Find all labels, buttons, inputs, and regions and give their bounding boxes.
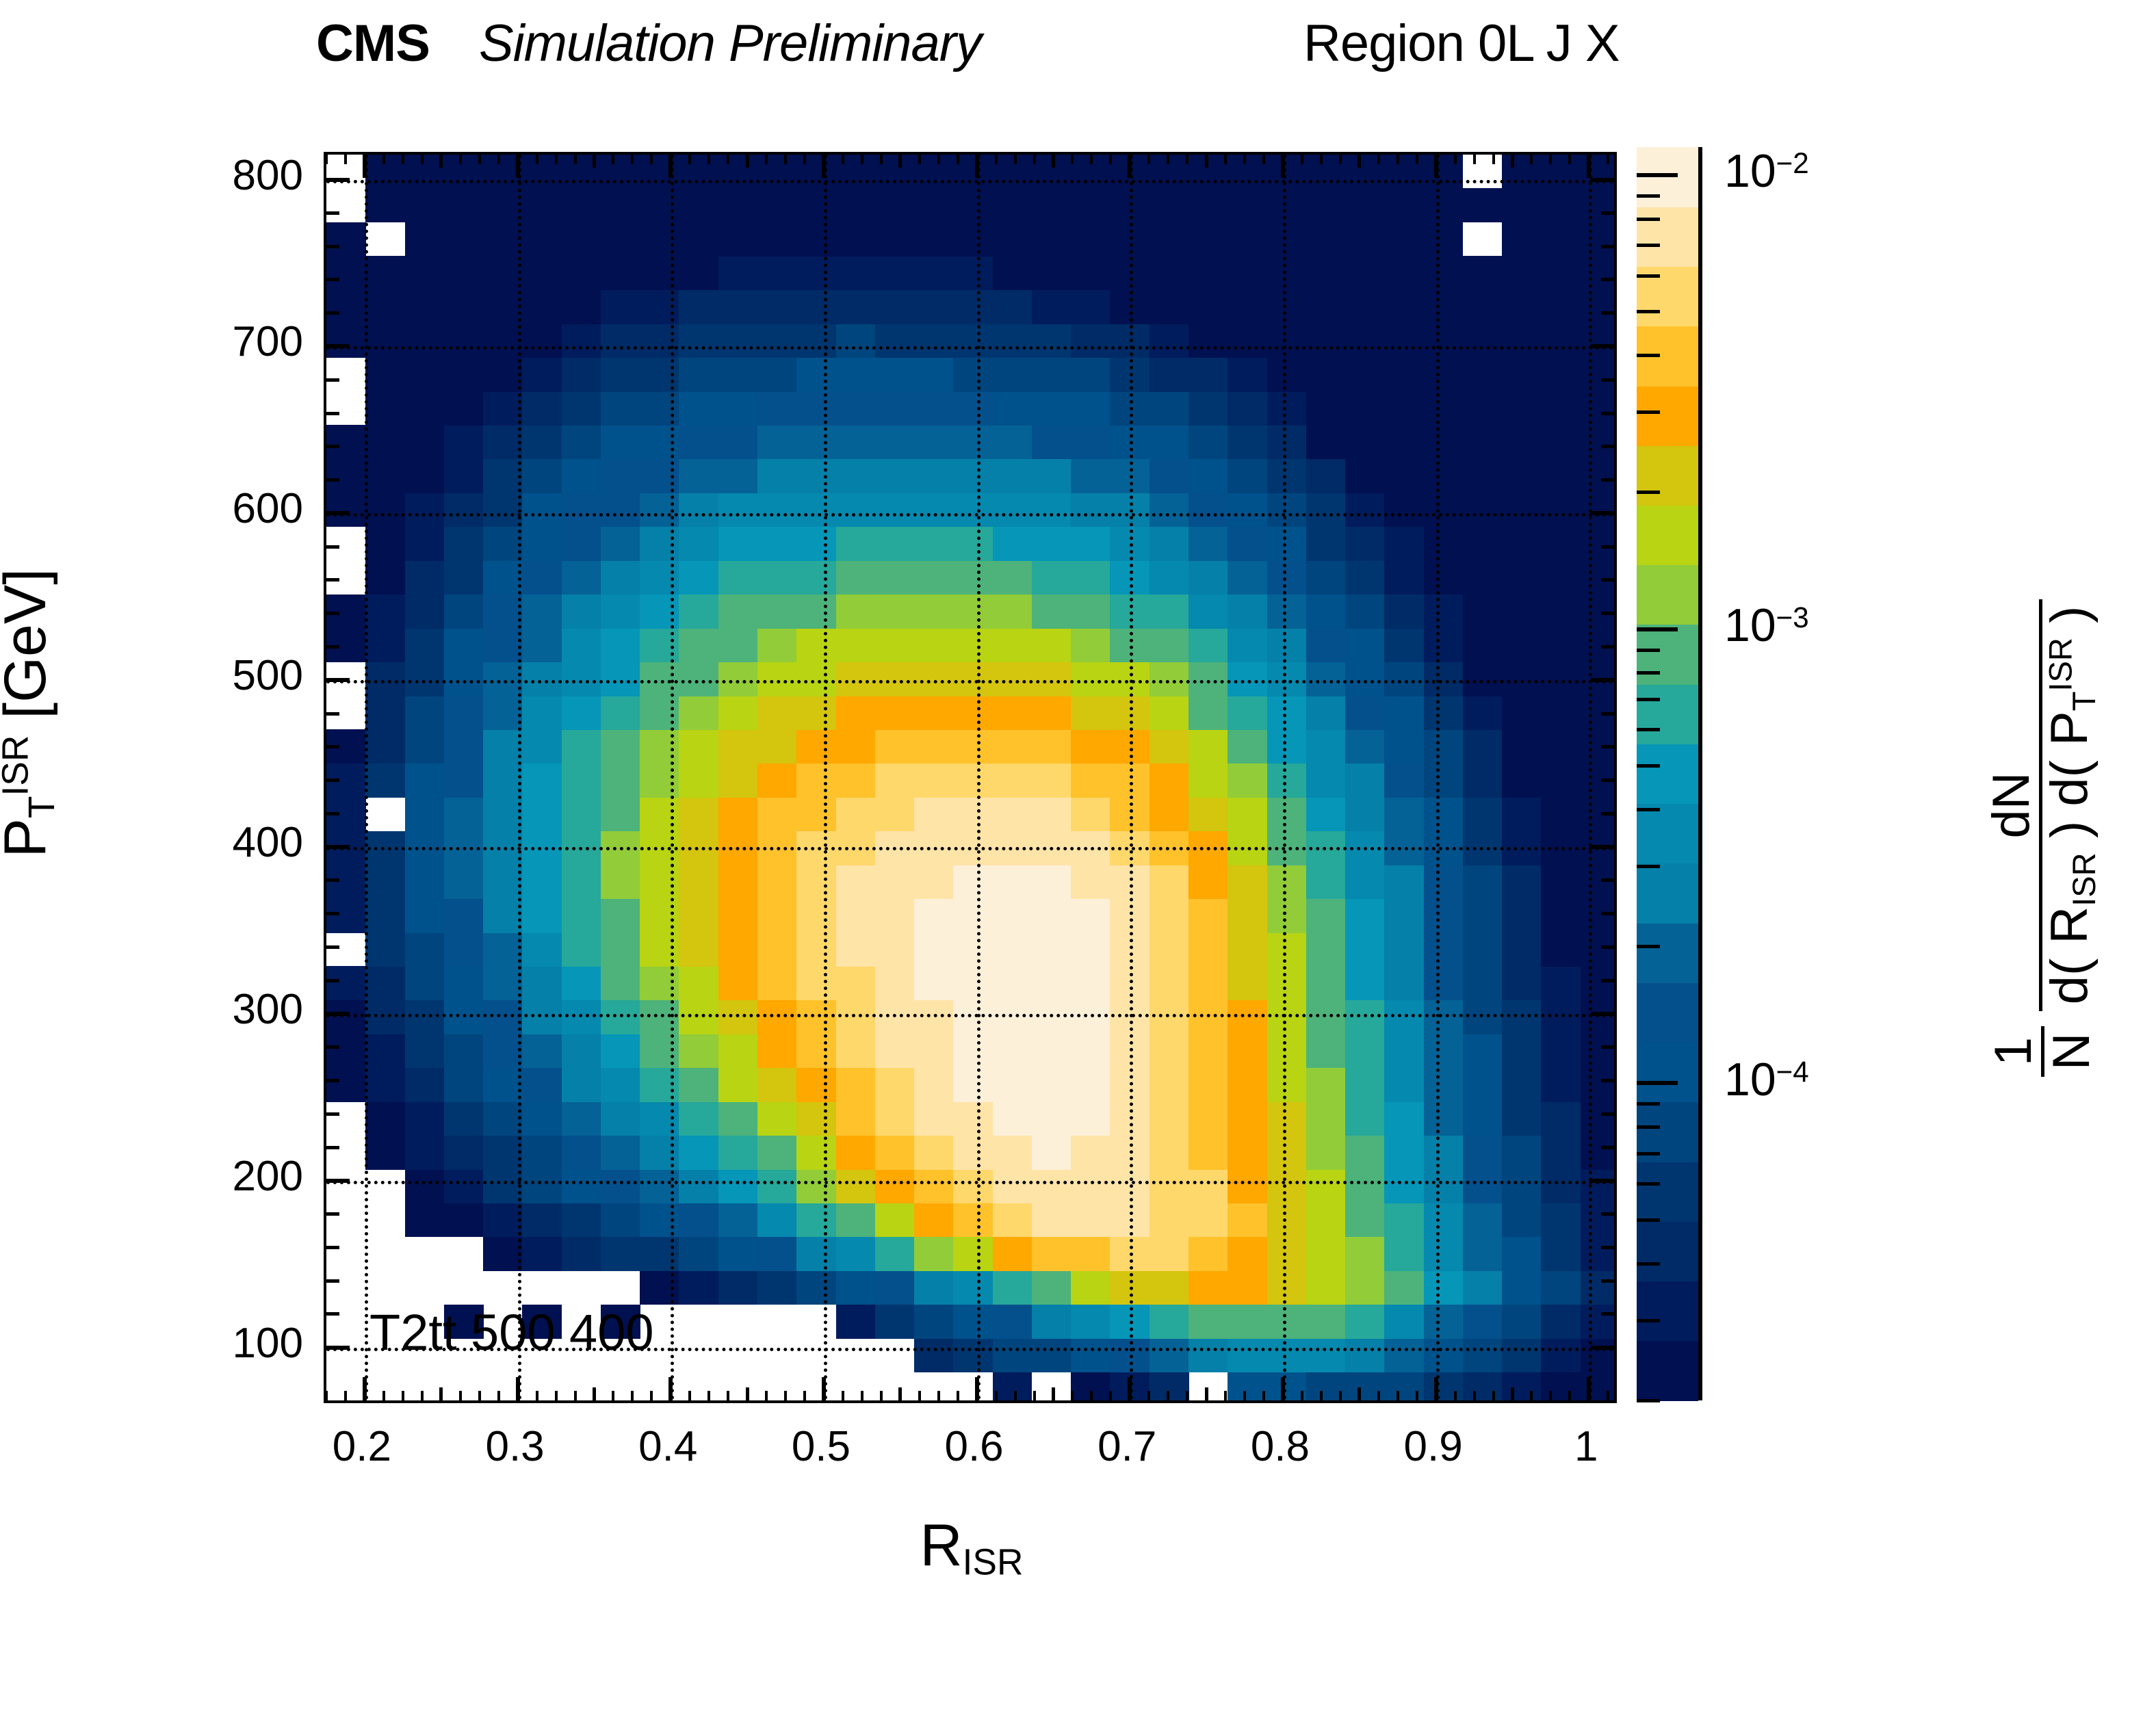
- heatmap-cell: [1032, 595, 1071, 629]
- heatmap-cell: [444, 290, 484, 324]
- heatmap-cell: [914, 797, 954, 831]
- x-axis-title: RISR: [0, 1512, 1943, 1583]
- heatmap-cell: [1424, 256, 1464, 290]
- heatmap-cell: [365, 662, 405, 696]
- heatmap-cell: [1189, 1270, 1228, 1305]
- heatmap-cell: [522, 527, 562, 561]
- x-axis-title-r: R: [920, 1513, 963, 1578]
- z-minor-tick: [1637, 244, 1660, 247]
- heatmap-cell: [1541, 1136, 1581, 1170]
- heatmap-cell: [1267, 1338, 1307, 1372]
- heatmap-cell: [1424, 1372, 1464, 1403]
- heatmap-cell: [1267, 459, 1307, 493]
- x-tick-minor: [555, 1391, 558, 1400]
- heatmap-cell: [483, 729, 523, 763]
- heatmap-cell: [1384, 628, 1424, 662]
- heatmap-cell: [1424, 763, 1464, 798]
- heatmap-cell: [1463, 560, 1503, 595]
- heatmap-cell: [483, 188, 523, 222]
- heatmap-cell: [914, 1270, 954, 1305]
- heatmap-cell: [1306, 628, 1346, 662]
- heatmap-cell: [757, 1136, 797, 1170]
- grid-line-horizontal: [326, 1014, 1614, 1017]
- grid-line-horizontal: [326, 680, 1614, 683]
- heatmap-cell: [444, 425, 484, 459]
- color-scale-segment: [1637, 207, 1698, 267]
- heatmap-cell: [1189, 527, 1228, 561]
- heatmap-cell: [405, 1101, 445, 1136]
- heatmap-cell: [1032, 899, 1071, 933]
- heatmap-cell: [444, 560, 484, 595]
- y-tick: [326, 1279, 339, 1283]
- heatmap-cell: [718, 527, 758, 561]
- heatmap-cell: [1541, 1372, 1581, 1403]
- heatmap-cell: [875, 932, 915, 967]
- heatmap-cell: [405, 358, 445, 392]
- heatmap-cell: [522, 932, 562, 967]
- heatmap-cell: [1345, 1101, 1385, 1136]
- heatmap-cell: [1581, 459, 1617, 493]
- z-axis-prefix-fraction: 1 N: [1986, 1026, 2099, 1077]
- heatmap-cell: [1541, 1305, 1581, 1339]
- y-tick-right: [1601, 945, 1614, 949]
- heatmap-cell: [836, 1169, 876, 1203]
- color-scale-segment: [1637, 1043, 1698, 1103]
- heatmap-cell: [1150, 493, 1189, 527]
- heatmap-cell: [601, 1169, 640, 1203]
- heatmap-cell: [1502, 1237, 1542, 1271]
- y-tick-right: [1601, 545, 1614, 549]
- heatmap-cell: [1424, 1338, 1464, 1372]
- heatmap-cell: [1581, 425, 1617, 459]
- heatmap-cell: [1071, 1101, 1111, 1136]
- heatmap-cell: [796, 527, 836, 561]
- z-minor-tick: [1637, 310, 1660, 313]
- heatmap-cell: [796, 696, 836, 730]
- heatmap-cell: [405, 290, 445, 324]
- heatmap-cell: [1345, 1203, 1385, 1237]
- heatmap-cell: [757, 1068, 797, 1102]
- y-tick-right: [1601, 412, 1614, 415]
- heatmap-cell: [1228, 1136, 1267, 1170]
- heatmap-cell: [757, 425, 797, 459]
- heatmap-cell: [1150, 1034, 1189, 1068]
- heatmap-cell: [679, 527, 718, 561]
- heatmap-cell: [1306, 595, 1346, 629]
- x-tick-label: 0.4: [579, 1422, 757, 1471]
- heatmap-cell: [836, 493, 876, 527]
- z-tick-label: 10−2: [1724, 144, 1809, 198]
- z-major-tick: [1637, 627, 1678, 631]
- heatmap-cell: [953, 290, 993, 324]
- heatmap-cell: [875, 358, 915, 392]
- heatmap-cell: [365, 966, 405, 1000]
- heatmap-cell: [679, 662, 718, 696]
- heatmap-cell: [326, 1068, 366, 1102]
- heatmap-cell: [562, 358, 601, 392]
- heatmap-cell: [483, 222, 523, 257]
- heatmap-cell: [1306, 1305, 1346, 1339]
- heatmap-cell: [1384, 560, 1424, 595]
- heatmap-cell: [679, 1136, 718, 1170]
- heatmap-cell: [405, 493, 445, 527]
- heatmap-cell: [1345, 459, 1385, 493]
- sample-annotation: T2tt 500 400: [369, 1303, 654, 1361]
- heatmap-cell: [1189, 324, 1228, 358]
- x-tick-minor: [382, 155, 385, 164]
- heatmap-cell: [1071, 1338, 1111, 1372]
- heatmap-cell: [875, 425, 915, 459]
- heatmap-cell: [1071, 899, 1111, 933]
- heatmap-cell: [405, 1068, 445, 1102]
- heatmap-cell: [522, 1034, 562, 1068]
- heatmap-cell: [562, 865, 601, 899]
- heatmap-cell: [1345, 493, 1385, 527]
- heatmap-cell: [914, 425, 954, 459]
- plot-header: CMS Simulation Preliminary Region 0L J X: [0, 10, 2156, 68]
- x-tick-label: 0.8: [1191, 1422, 1369, 1471]
- x-tick-minor: [459, 155, 462, 164]
- heatmap-cell: [1502, 729, 1542, 763]
- heatmap-cell: [1384, 324, 1424, 358]
- heatmap-cell: [1424, 932, 1464, 967]
- y-tick: [326, 945, 339, 949]
- y-tick: [326, 378, 339, 382]
- heatmap-cell: [1228, 1270, 1267, 1305]
- heatmap-cell: [1267, 290, 1307, 324]
- heatmap-cell: [993, 899, 1032, 933]
- heatmap-cell: [444, 527, 484, 561]
- y-tick-label: 500: [132, 651, 303, 700]
- heatmap-cell: [1384, 1068, 1424, 1102]
- heatmap-cell: [1502, 324, 1542, 358]
- heatmap-cell: [1345, 966, 1385, 1000]
- heatmap-cell: [1150, 256, 1189, 290]
- x-tick-minor: [1587, 1391, 1590, 1400]
- heatmap-cell: [601, 358, 640, 392]
- heatmap-cell: [1267, 1034, 1307, 1068]
- x-tick-minor: [976, 155, 978, 164]
- heatmap-cell: [1502, 628, 1542, 662]
- heatmap-cell: [562, 966, 601, 1000]
- heatmap-cell: [562, 459, 601, 493]
- heatmap-cell: [326, 222, 366, 257]
- y-tick: [326, 612, 339, 615]
- heatmap-cell: [1189, 155, 1228, 189]
- x-tick-label: 0.2: [273, 1422, 451, 1471]
- z-minor-tick: [1637, 865, 1660, 868]
- heatmap-cell: [1502, 222, 1542, 257]
- heatmap-cell: [679, 1101, 718, 1136]
- heatmap-cell: [1189, 865, 1228, 899]
- heatmap-cell: [796, 1169, 836, 1203]
- heatmap-cell: [1228, 1237, 1267, 1271]
- heatmap-cell: [1345, 628, 1385, 662]
- heatmap-cell: [326, 899, 366, 933]
- heatmap-cell: [914, 1101, 954, 1136]
- heatmap-cell: [914, 256, 954, 290]
- heatmap-cell: [1463, 425, 1503, 459]
- heatmap-cell: [483, 966, 523, 1000]
- heatmap-cell: [601, 493, 640, 527]
- heatmap-cell: [1541, 1270, 1581, 1305]
- heatmap-cell: [1384, 899, 1424, 933]
- heatmap-cell: [953, 1101, 993, 1136]
- heatmap-cell: [1384, 425, 1424, 459]
- x-tick-minor: [976, 1391, 978, 1400]
- z-den-part1: d( R: [2040, 906, 2099, 1005]
- heatmap-cell: [562, 729, 601, 763]
- heatmap-cell: [679, 425, 718, 459]
- color-scale-segment: [1637, 1341, 1698, 1401]
- heatmap-cell: [914, 1338, 954, 1372]
- heatmap-cell: [1306, 1237, 1346, 1271]
- heatmap-cell: [1189, 493, 1228, 527]
- heatmap-cell: [1384, 1203, 1424, 1237]
- x-tick-minor: [574, 1391, 577, 1400]
- heatmap-cell: [601, 1101, 640, 1136]
- heatmap-cell: [836, 290, 876, 324]
- heatmap-cell: [1581, 391, 1617, 426]
- x-tick-minor: [688, 155, 691, 164]
- x-tick-minor: [1454, 155, 1457, 164]
- heatmap-cell: [953, 391, 993, 426]
- heatmap-cell: [1306, 729, 1346, 763]
- heatmap-cell: [796, 188, 836, 222]
- heatmap-cell: [993, 1338, 1032, 1372]
- heatmap-cell: [679, 899, 718, 933]
- heatmap-cell: [757, 222, 797, 257]
- heatmap-cell: [1267, 493, 1307, 527]
- heatmap-cell: [1345, 324, 1385, 358]
- heatmap-cell: [757, 493, 797, 527]
- heatmap-cell: [1581, 155, 1617, 189]
- z-den-sup2: ISR: [2042, 638, 2078, 692]
- grid-line-horizontal: [326, 1181, 1614, 1184]
- heatmap-cell: [405, 188, 445, 222]
- x-axis-title-sub: ISR: [963, 1542, 1024, 1582]
- heatmap-cell: [1189, 1169, 1228, 1203]
- heatmap-cell: [405, 324, 445, 358]
- heatmap-cell: [1267, 1136, 1307, 1170]
- heatmap-cell: [953, 1270, 993, 1305]
- heatmap-cell: [1502, 391, 1542, 426]
- heatmap-cell: [718, 662, 758, 696]
- x-tick-minor: [536, 1391, 538, 1400]
- color-scale-segment: [1637, 386, 1698, 446]
- color-scale-segment: [1637, 147, 1698, 207]
- heatmap-cell: [1267, 560, 1307, 595]
- x-tick-minor: [1320, 155, 1323, 164]
- heatmap-cell: [444, 493, 484, 527]
- z-minor-tick: [1637, 1125, 1660, 1129]
- heatmap-cell: [993, 865, 1032, 899]
- color-scale-segment: [1637, 445, 1698, 506]
- x-tick-minor: [612, 155, 614, 164]
- y-tick: [326, 979, 339, 982]
- z-minor-tick: [1637, 194, 1660, 198]
- heatmap-cell: [836, 932, 876, 967]
- x-tick-minor: [593, 155, 595, 164]
- y-tick: [326, 678, 350, 682]
- heatmap-cell: [483, 459, 523, 493]
- heatmap-cell: [483, 595, 523, 629]
- heatmap-cell: [1502, 560, 1542, 595]
- x-tick-minor: [995, 155, 998, 164]
- heatmap-cell: [1267, 1101, 1307, 1136]
- x-tick-minor: [1454, 1391, 1457, 1400]
- heatmap-cell: [1071, 1270, 1111, 1305]
- x-tick-minor: [765, 155, 768, 164]
- heatmap-cell: [1150, 662, 1189, 696]
- x-tick-minor: [1473, 1391, 1476, 1400]
- heatmap-cell: [444, 763, 484, 798]
- heatmap-cell: [1150, 1068, 1189, 1102]
- heatmap-cell: [836, 1068, 876, 1102]
- x-tick-minor: [421, 1391, 424, 1400]
- heatmap-cell: [444, 1101, 484, 1136]
- heatmap-cell: [444, 662, 484, 696]
- heatmap-cell: [914, 865, 954, 899]
- heatmap-cell: [718, 966, 758, 1000]
- heatmap-cell: [1581, 1068, 1617, 1102]
- heatmap-cell: [1032, 662, 1071, 696]
- heatmap-cell: [836, 865, 876, 899]
- heatmap-cell: [836, 1237, 876, 1271]
- heatmap-cell: [1071, 696, 1111, 730]
- y-tick-right: [1591, 344, 1614, 348]
- heatmap-cell: [1424, 1203, 1464, 1237]
- y-tick-right: [1601, 912, 1614, 915]
- heatmap-cell: [483, 256, 523, 290]
- heatmap-cell: [1384, 763, 1424, 798]
- heatmap-cell: [679, 1068, 718, 1102]
- color-scale-segment: [1637, 565, 1698, 625]
- heatmap-cell: [718, 256, 758, 290]
- heatmap-cell: [1150, 188, 1189, 222]
- heatmap-cell: [796, 628, 836, 662]
- heatmap-cell: [405, 1169, 445, 1203]
- heatmap-cell: [405, 628, 445, 662]
- y-tick-right: [1601, 878, 1614, 882]
- heatmap-cell: [365, 1068, 405, 1102]
- x-tick-minor: [1071, 155, 1074, 164]
- heatmap-cell: [562, 256, 601, 290]
- heatmap-cell: [562, 222, 601, 257]
- heatmap-cell: [1502, 797, 1542, 831]
- heatmap-cell: [601, 1034, 640, 1068]
- heatmap-cell: [444, 1068, 484, 1102]
- heatmap-cell: [601, 527, 640, 561]
- heatmap-cell: [1150, 1169, 1189, 1203]
- y-tick: [326, 712, 339, 716]
- y-axis-title-unit: [GeV]: [0, 569, 58, 735]
- heatmap-cell: [444, 899, 484, 933]
- heatmap-cell: [365, 459, 405, 493]
- heatmap-cell: [993, 1270, 1032, 1305]
- heatmap-cell: [836, 222, 876, 257]
- heatmap-cell: [1267, 188, 1307, 222]
- x-tick-minor: [1033, 155, 1036, 164]
- heatmap-cell: [914, 1305, 954, 1339]
- y-tick: [326, 645, 339, 649]
- heatmap-cell: [1228, 865, 1267, 899]
- heatmap-cell: [679, 222, 718, 257]
- x-tick-label: 0.3: [426, 1422, 604, 1471]
- heatmap-cell: [679, 865, 718, 899]
- heatmap-cell: [1384, 188, 1424, 222]
- y-tick-right: [1601, 1146, 1614, 1149]
- heatmap-cell: [326, 256, 366, 290]
- heatmap-cell: [483, 358, 523, 392]
- heatmap-cell: [953, 729, 993, 763]
- heatmap-cell: [1384, 662, 1424, 696]
- heatmap-cell: [1306, 358, 1346, 392]
- heatmap-cell: [1150, 1203, 1189, 1237]
- x-tick-minor: [1224, 1391, 1227, 1400]
- y-tick-right: [1591, 1179, 1614, 1183]
- heatmap-cell: [914, 493, 954, 527]
- heatmap-cell: [483, 1068, 523, 1102]
- heatmap-cell: [1424, 1237, 1464, 1271]
- heatmap-cell: [914, 358, 954, 392]
- heatmap-cell: [1463, 459, 1503, 493]
- heatmap-cell: [875, 662, 915, 696]
- heatmap-cell: [679, 1270, 718, 1305]
- color-scale-segment: [1637, 1281, 1698, 1342]
- x-tick-minor: [861, 155, 863, 164]
- x-tick-minor: [1568, 1391, 1571, 1400]
- heatmap-cell: [1306, 324, 1346, 358]
- heatmap-cell: [796, 595, 836, 629]
- heatmap-cell: [836, 459, 876, 493]
- heatmap-cell: [444, 1169, 484, 1203]
- heatmap-cell: [1345, 425, 1385, 459]
- heatmap-cell: [405, 763, 445, 798]
- heatmap-cell: [953, 966, 993, 1000]
- x-tick-minor: [1607, 1391, 1609, 1400]
- heatmap-cell: [1424, 188, 1464, 222]
- heatmap-cell: [1228, 1372, 1267, 1403]
- heatmap-cell: [993, 188, 1032, 222]
- heatmap-cell: [993, 662, 1032, 696]
- heatmap-cell: [405, 391, 445, 426]
- heatmap-cell: [1032, 932, 1071, 967]
- z-den-part3: ): [2040, 606, 2099, 638]
- heatmap-cell: [953, 324, 993, 358]
- heatmap-cell: [875, 1101, 915, 1136]
- heatmap-cell: [1150, 358, 1189, 392]
- heatmap-cell: [1228, 527, 1267, 561]
- y-tick: [326, 779, 339, 782]
- heatmap-cell: [993, 560, 1032, 595]
- heatmap-cell: [1541, 560, 1581, 595]
- heatmap-cell: [1581, 1101, 1617, 1136]
- heatmap-cell: [365, 256, 405, 290]
- heatmap-cell: [1306, 425, 1346, 459]
- heatmap-cell: [1541, 527, 1581, 561]
- heatmap-cell: [1463, 628, 1503, 662]
- heatmap-cell: [1189, 595, 1228, 629]
- grid-line-vertical: [518, 155, 521, 1400]
- heatmap-cell: [1581, 290, 1617, 324]
- heatmap-cell: [1424, 1136, 1464, 1170]
- x-tick-minor: [1530, 155, 1533, 164]
- heatmap-cell: [601, 1068, 640, 1102]
- z-minor-tick: [1637, 698, 1660, 701]
- color-scale-segment: [1637, 505, 1698, 565]
- x-tick-minor: [344, 1391, 347, 1400]
